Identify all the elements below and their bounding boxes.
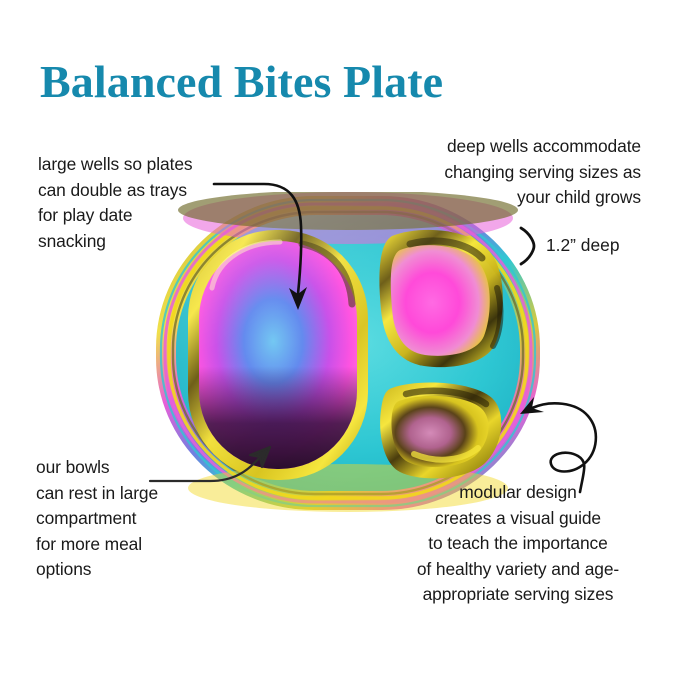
page-title: Balanced Bites Plate [40,58,443,107]
plate-sheen [176,215,520,491]
callout-deep-wells: deep wells accommodate changing serving … [444,134,641,211]
callout-bowls-rest: our bowls can rest in large compartment … [36,455,158,583]
callout-large-wells: large wells so plates can double as tray… [38,152,193,254]
callout-modular-design: modular design creates a visual guide to… [393,480,643,608]
infographic-canvas: Balanced Bites Plate [0,0,679,679]
bracket-right-icon [517,225,537,267]
divided-rainbow-plate-image [152,192,544,514]
depth-label: 1.2” deep [546,237,620,254]
depth-measurement: 1.2” deep [517,225,620,267]
